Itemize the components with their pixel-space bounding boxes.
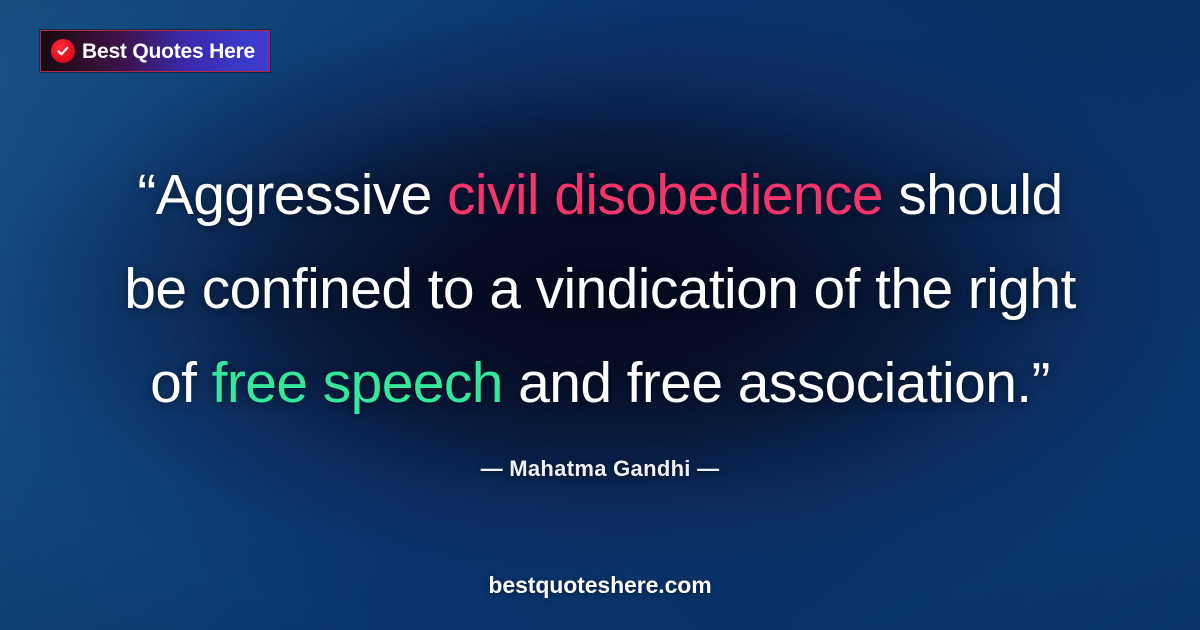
brand-badge[interactable]: Best Quotes Here bbox=[40, 30, 270, 72]
quote-segment-plain: should bbox=[883, 163, 1063, 227]
site-url: bestquoteshere.com bbox=[0, 572, 1200, 599]
quote-line-2: be confined to a vindication of the righ… bbox=[60, 242, 1140, 336]
quote-text: “Aggressive civil disobedience should be… bbox=[0, 148, 1200, 430]
quote-card: Best Quotes Here “Aggressive civil disob… bbox=[0, 0, 1200, 630]
quote-line-1: “Aggressive civil disobedience should bbox=[60, 148, 1140, 242]
quote-segment-plain: and free association.” bbox=[503, 351, 1050, 415]
quote-segment-plain: be confined to a vindication of the righ… bbox=[124, 257, 1075, 321]
quote-line-3: of free speech and free association.” bbox=[60, 336, 1140, 430]
quote-segment-highlight-green: free speech bbox=[212, 351, 503, 415]
check-circle-icon bbox=[51, 39, 75, 63]
quote-segment-plain: “Aggressive bbox=[137, 163, 447, 227]
quote-segment-plain: of bbox=[150, 351, 212, 415]
brand-badge-label: Best Quotes Here bbox=[82, 41, 255, 62]
quote-attribution: — Mahatma Gandhi — bbox=[0, 456, 1200, 482]
quote-segment-highlight-pink: civil disobedience bbox=[447, 163, 883, 227]
